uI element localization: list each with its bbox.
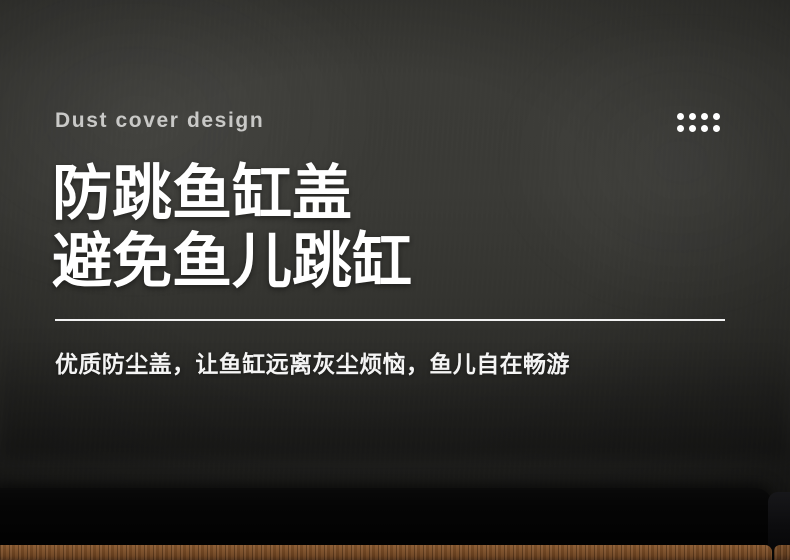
divider-line: [55, 319, 725, 321]
dot-icon: [689, 125, 696, 132]
dot-icon: [689, 113, 696, 120]
dot-icon: [713, 113, 720, 120]
headline-line-2: 避免鱼儿跳缸: [52, 228, 412, 296]
eyebrow-label: Dust cover design: [55, 109, 264, 133]
headline-line-1: 防跳鱼缸盖: [52, 160, 412, 228]
dot-icon: [701, 125, 708, 132]
subtitle-text: 优质防尘盖，让鱼缸远离灰尘烦恼，鱼儿自在畅游: [55, 345, 570, 379]
dot-icon: [713, 125, 720, 132]
headline: 防跳鱼缸盖 避免鱼儿跳缸: [52, 160, 412, 296]
dot-icon: [677, 113, 684, 120]
dot-icon: [701, 113, 708, 120]
dust-cover-design-banner: Dust cover design 防跳鱼缸盖 避免鱼儿跳缸 优质防尘盖，让鱼缸…: [0, 0, 790, 560]
dot-icon: [677, 125, 684, 132]
dot-grid-decoration: [677, 113, 720, 132]
banner-content: Dust cover design 防跳鱼缸盖 避免鱼儿跳缸 优质防尘盖，让鱼缸…: [0, 0, 790, 560]
